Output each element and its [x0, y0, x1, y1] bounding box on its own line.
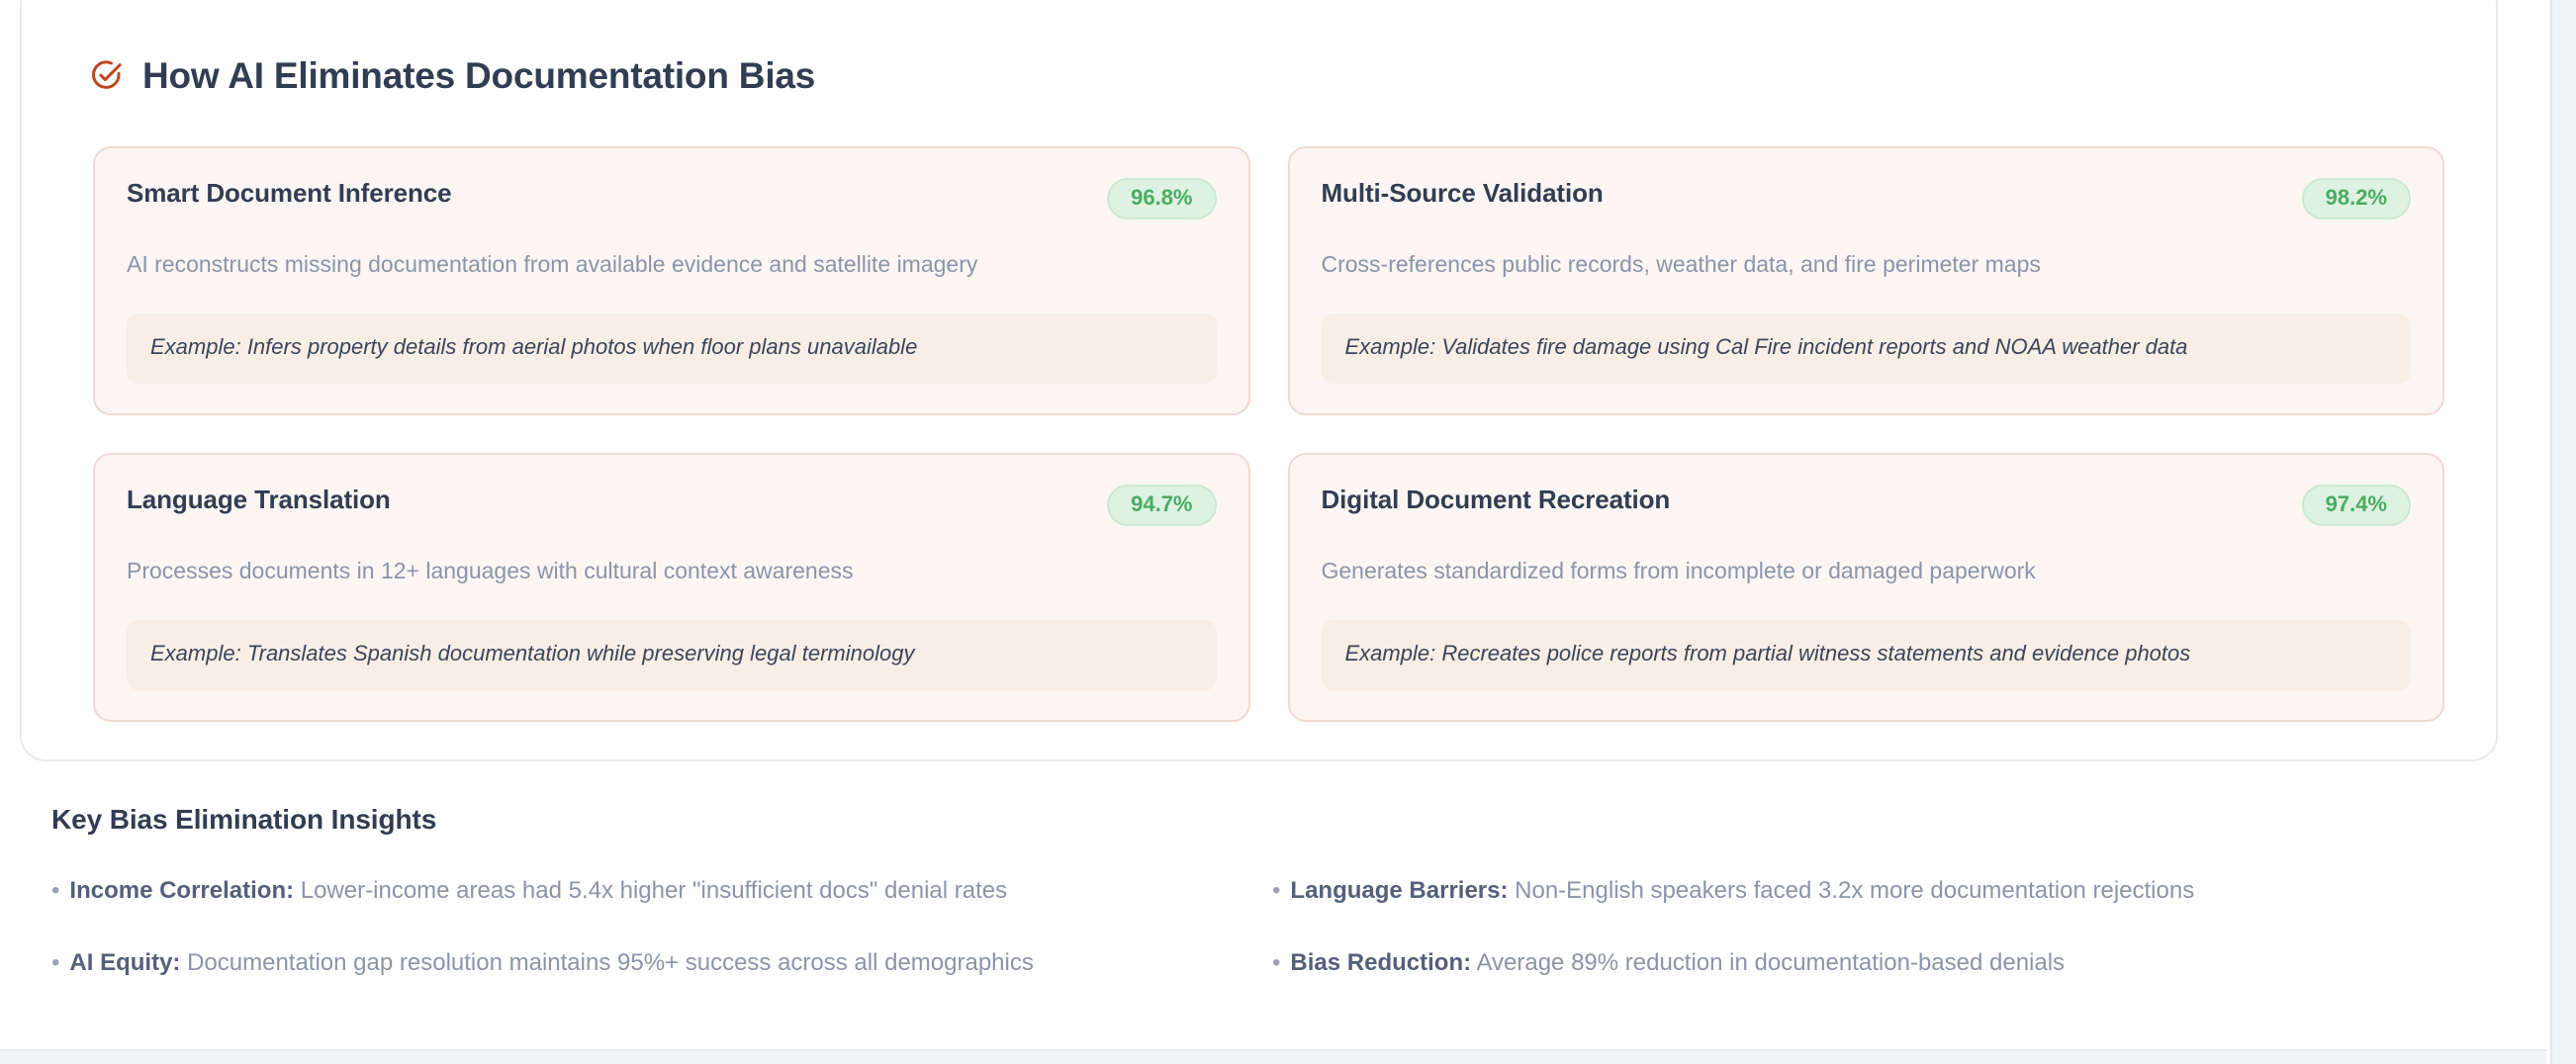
- accuracy-badge: 94.7%: [1107, 485, 1216, 526]
- tile-example: Example: Validates fire damage using Cal…: [1322, 313, 2412, 384]
- tile-header: Language Translation 94.7%: [127, 485, 1217, 526]
- panel-header: How AI Eliminates Documentation Bias: [69, 2, 2448, 146]
- insight-item-bias-reduction: • Bias Reduction: Average 89% reduction …: [1272, 947, 2455, 978]
- tile-header: Digital Document Recreation 97.4%: [1322, 485, 2412, 526]
- tile-example: Example: Infers property details from ae…: [127, 313, 1217, 384]
- documentation-bias-panel: How AI Eliminates Documentation Bias Sma…: [20, 0, 2498, 761]
- insight-item-income-correlation: • Income Correlation: Lower-income areas…: [51, 875, 1235, 906]
- vertical-scrollbar[interactable]: [2550, 0, 2576, 1064]
- tile-example: Example: Translates Spanish documentatio…: [127, 620, 1217, 690]
- insight-text: Documentation gap resolution maintains 9…: [187, 949, 1034, 976]
- bullet-icon: •: [51, 951, 59, 975]
- bullet-icon: •: [51, 879, 59, 903]
- circle-check-icon: [89, 59, 123, 93]
- insight-label: Language Barriers:: [1290, 877, 1508, 904]
- feature-tile-digital-document-recreation[interactable]: Digital Document Recreation 97.4% Genera…: [1288, 453, 2445, 722]
- accuracy-badge: 97.4%: [2302, 485, 2411, 526]
- insights-grid: • Income Correlation: Lower-income areas…: [51, 875, 2455, 978]
- insight-text: Non-English speakers faced 3.2x more doc…: [1515, 877, 2194, 904]
- tile-example: Example: Recreates police reports from p…: [1322, 620, 2412, 690]
- tile-description: AI reconstructs missing documentation fr…: [127, 249, 1217, 280]
- insight-label: Income Correlation:: [69, 877, 294, 904]
- tile-description: Processes documents in 12+ languages wit…: [127, 556, 1217, 586]
- tile-description: Cross-references public records, weather…: [1322, 249, 2412, 280]
- tile-title: Digital Document Recreation: [1322, 485, 1671, 515]
- insight-text: Lower-income areas had 5.4x higher "insu…: [301, 877, 1007, 904]
- screenshot-root: How AI Eliminates Documentation Bias Sma…: [0, 0, 2576, 1064]
- tile-title: Smart Document Inference: [127, 178, 451, 209]
- accuracy-badge: 96.8%: [1107, 178, 1216, 220]
- bullet-icon: •: [1272, 951, 1280, 975]
- insight-label: Bias Reduction:: [1290, 949, 1471, 976]
- key-insights-section: Key Bias Elimination Insights • Income C…: [51, 781, 2455, 979]
- insights-title: Key Bias Elimination Insights: [51, 804, 2455, 836]
- feature-tile-multi-source-validation[interactable]: Multi-Source Validation 98.2% Cross-refe…: [1288, 146, 2445, 415]
- bottom-strip: [0, 1051, 2546, 1064]
- insight-item-ai-equity: • AI Equity: Documentation gap resolutio…: [51, 947, 1235, 978]
- tile-header: Smart Document Inference 96.8%: [127, 178, 1217, 220]
- page-title: How AI Eliminates Documentation Bias: [142, 56, 815, 97]
- tile-title: Language Translation: [127, 485, 391, 515]
- tile-title: Multi-Source Validation: [1322, 178, 1604, 209]
- accuracy-badge: 98.2%: [2302, 178, 2411, 220]
- feature-tile-smart-document-inference[interactable]: Smart Document Inference 96.8% AI recons…: [93, 146, 1250, 415]
- tile-header: Multi-Source Validation 98.2%: [1322, 178, 2412, 220]
- scrollable-content: How AI Eliminates Documentation Bias Sma…: [0, 0, 2546, 1064]
- feature-tile-language-translation[interactable]: Language Translation 94.7% Processes doc…: [93, 453, 1250, 722]
- insight-item-language-barriers: • Language Barriers: Non-English speaker…: [1272, 875, 2455, 906]
- insight-text: Average 89% reduction in documentation-b…: [1476, 949, 2065, 976]
- bullet-icon: •: [1272, 879, 1280, 903]
- tile-description: Generates standardized forms from incomp…: [1322, 556, 2412, 586]
- feature-tile-grid: Smart Document Inference 96.8% AI recons…: [69, 146, 2448, 721]
- insight-label: AI Equity:: [69, 949, 180, 976]
